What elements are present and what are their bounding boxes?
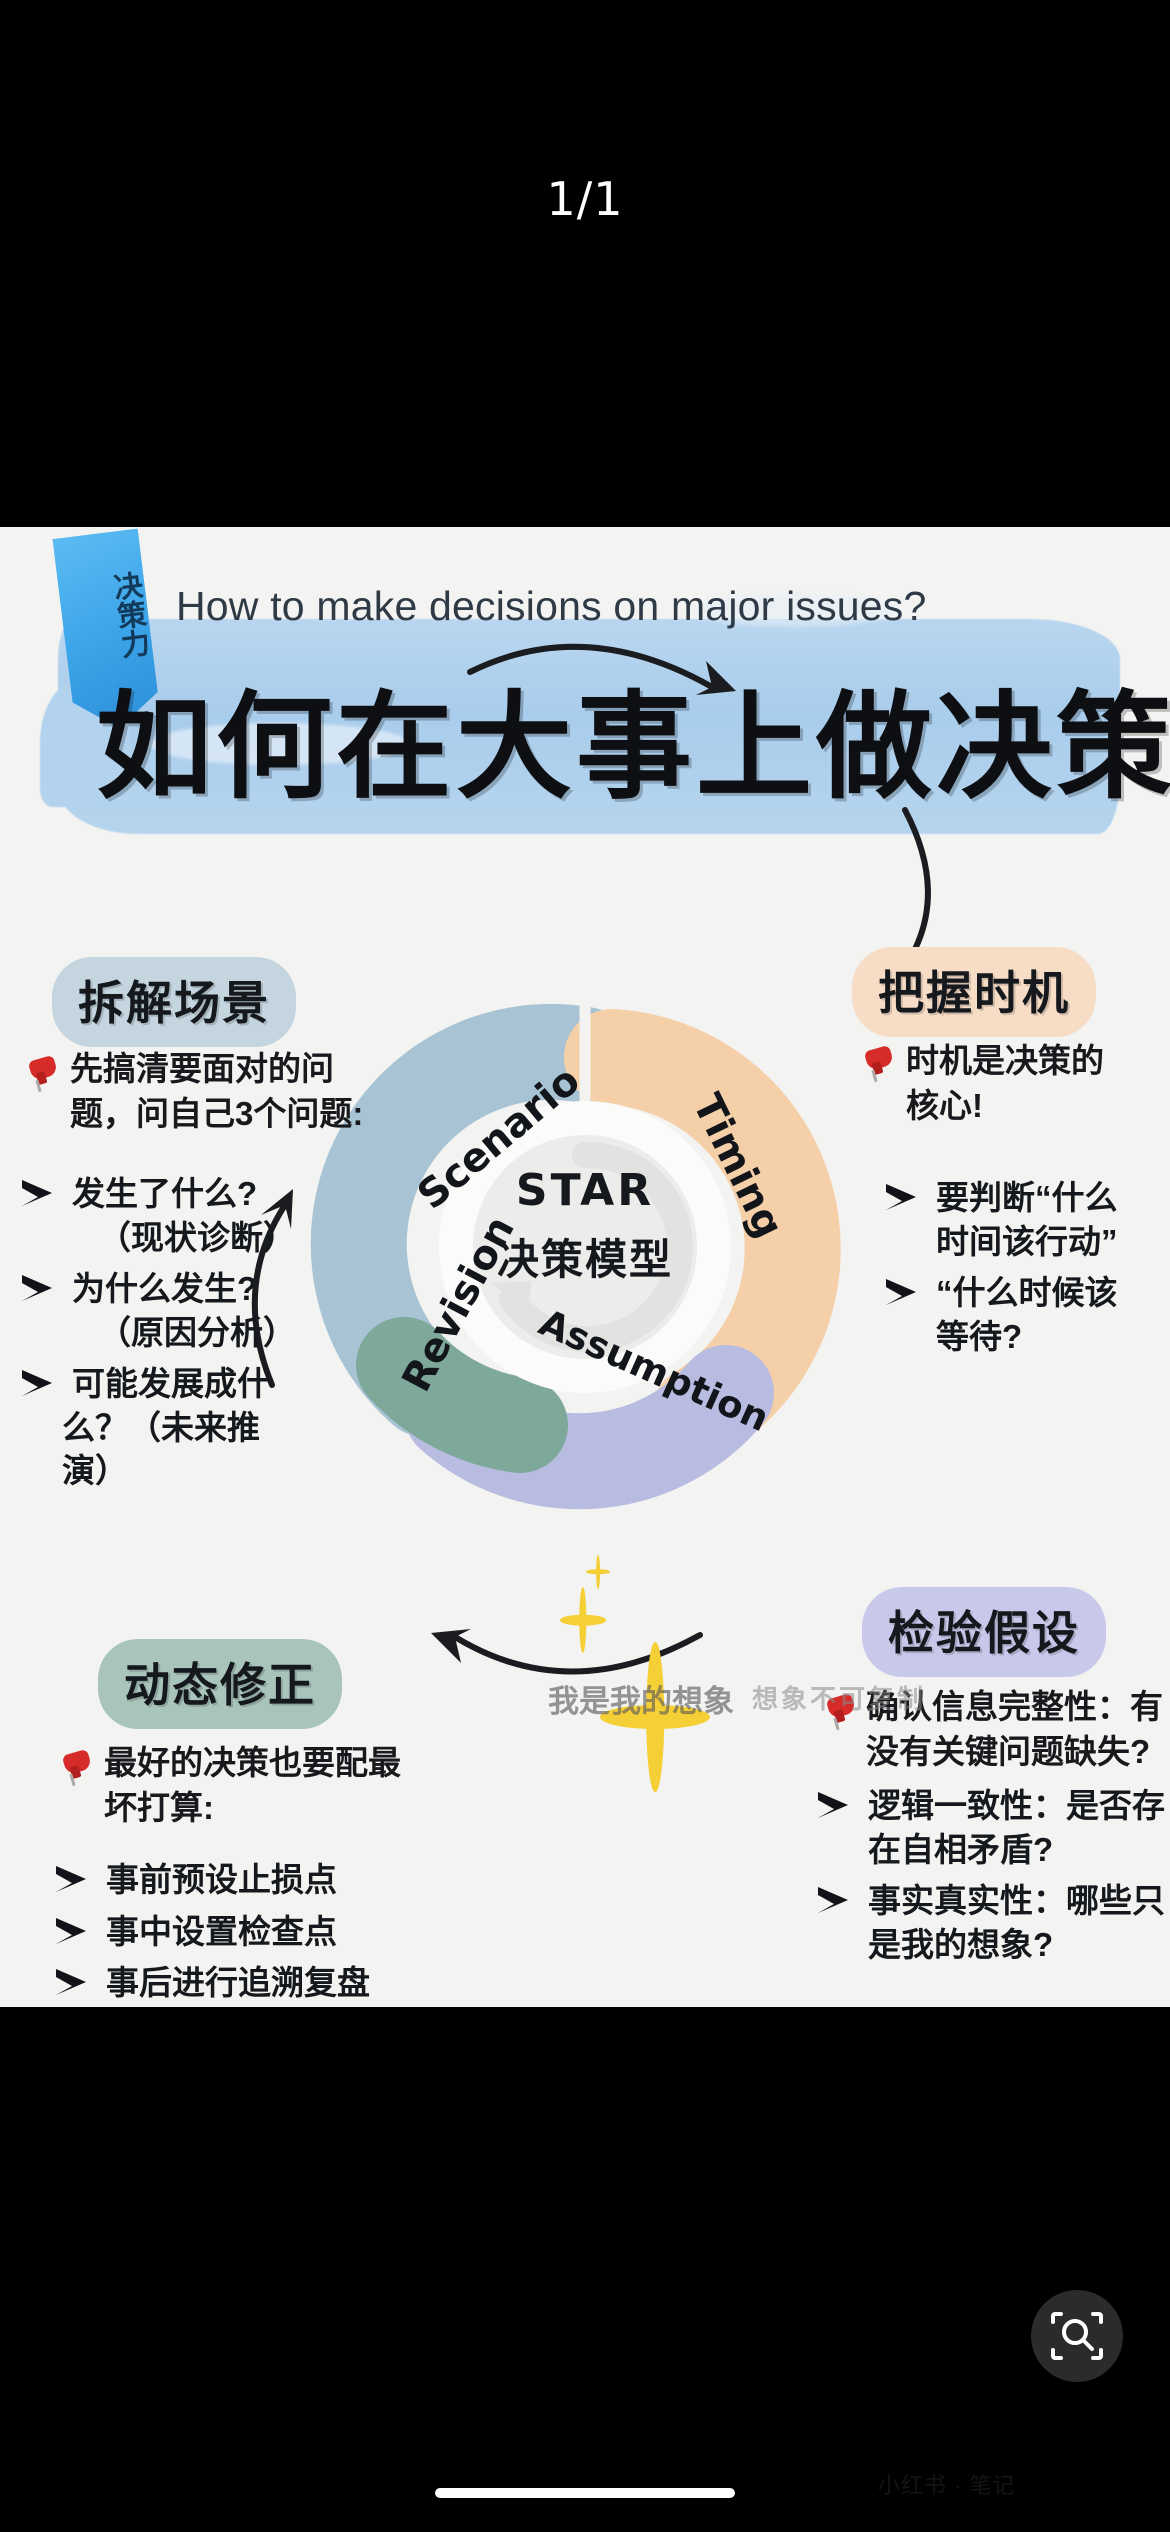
list-item: 逻辑一致性：是否存 bbox=[812, 1783, 1170, 1829]
lead-text-timing: 时机是决策的 核心! bbox=[906, 1039, 1170, 1129]
bullet-list-timing: 要判断“什么 时间该行动” “什么时候该 等待? bbox=[880, 1175, 1170, 1365]
arrow-bullet-icon bbox=[818, 1792, 848, 1818]
cycle-arrow-top bbox=[470, 647, 712, 687]
scan-search-button[interactable] bbox=[1031, 2290, 1123, 2382]
list-item: 事实真实性：哪些只 bbox=[812, 1878, 1170, 1924]
arrow-bullet-icon bbox=[886, 1184, 916, 1210]
arrow-bullet-icon bbox=[56, 1866, 86, 1892]
list-item-sub: （现状诊断） bbox=[16, 1215, 336, 1261]
bullet-list-revision: 事前预设止损点 事中设置检查点 事后进行追溯复盘 bbox=[50, 1857, 410, 2007]
arrow-bullet-icon bbox=[56, 1918, 86, 1944]
image-watermark-secondary: 想象不可复制 bbox=[752, 1679, 926, 1716]
page-indicator: 1/1 bbox=[0, 172, 1170, 226]
bullet-list-scenario: 发生了什么? （现状诊断） 为什么发生? （原因分析） 可能发展成什 么？（未来… bbox=[16, 1171, 336, 1500]
section-heading-timing: 把握时机 bbox=[852, 947, 1096, 1037]
bottom-watermark: 小红书 · 笔记 bbox=[878, 2468, 1016, 2500]
infographic-image[interactable]: 决策力 How to make decisions on major issue… bbox=[0, 527, 1170, 2007]
bullet-list-assumption: 逻辑一致性：是否存 在自相矛盾? 事实真实性：哪些只 是我的想象? bbox=[812, 1783, 1170, 1973]
lead-text-scenario: 先搞清要面对的问 题，问自己3个问题: bbox=[70, 1047, 370, 1137]
arrow-bullet-icon bbox=[22, 1275, 52, 1301]
list-item-sub: 等待? bbox=[880, 1314, 1170, 1360]
image-watermark: 我是我的想象 bbox=[548, 1676, 734, 1721]
list-item-sub: 么？（未来推 bbox=[16, 1405, 336, 1451]
section-heading-scenario: 拆解场景 bbox=[52, 957, 296, 1047]
list-item: 事后进行追溯复盘 bbox=[50, 1960, 410, 2006]
section-heading-assumption: 检验假设 bbox=[862, 1587, 1106, 1677]
list-item: 事中设置检查点 bbox=[50, 1909, 410, 1955]
list-item: 事前预设止损点 bbox=[50, 1857, 410, 1903]
phone-screen: 1/1 决策力 How to make decisions on major i… bbox=[0, 0, 1170, 2532]
pushpin-icon bbox=[862, 1047, 896, 1081]
arrow-bullet-icon bbox=[886, 1279, 916, 1305]
list-item-sub: （原因分析） bbox=[16, 1310, 336, 1356]
lead-text-revision: 最好的决策也要配最 坏打算: bbox=[104, 1741, 434, 1831]
list-item-sub: 在自相矛盾? bbox=[812, 1827, 1170, 1873]
sparkle-icon bbox=[586, 1555, 610, 1589]
section-heading-revision: 动态修正 bbox=[98, 1639, 342, 1729]
list-item: 发生了什么? bbox=[16, 1171, 336, 1217]
list-item: 可能发展成什 bbox=[16, 1361, 336, 1407]
list-item-sub: 时间该行动” bbox=[880, 1219, 1170, 1265]
model-name-zh: 决策模型 bbox=[453, 1226, 717, 1287]
arrow-bullet-icon bbox=[22, 1370, 52, 1396]
list-item: 要判断“什么 bbox=[880, 1175, 1170, 1221]
home-indicator[interactable] bbox=[435, 2488, 735, 2498]
pushpin-icon bbox=[26, 1057, 60, 1091]
list-item-sub: 是我的想象? bbox=[812, 1922, 1170, 1968]
pushpin-icon bbox=[60, 1751, 94, 1785]
segment-label-assumption: Assumption bbox=[533, 1301, 775, 1440]
model-name-en: STAR bbox=[453, 1165, 717, 1216]
list-item-sub2: 演） bbox=[16, 1448, 336, 1494]
arrow-bullet-icon bbox=[818, 1887, 848, 1913]
scan-search-icon bbox=[1031, 2290, 1123, 2382]
list-item: “什么时候该 bbox=[880, 1270, 1170, 1316]
arrow-bullet-icon bbox=[56, 1969, 86, 1995]
ring-center: STAR 决策模型 Scenario Timing Assumption Rev… bbox=[335, 997, 835, 1497]
list-item: 为什么发生? bbox=[16, 1266, 336, 1312]
arrow-bullet-icon bbox=[22, 1180, 52, 1206]
